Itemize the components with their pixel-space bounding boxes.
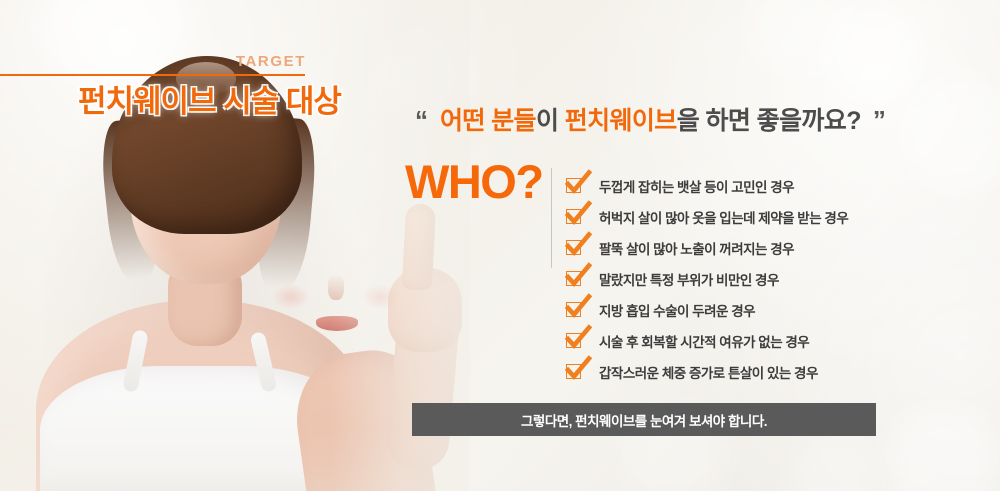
check-mark-icon: [565, 264, 591, 286]
checkbox-icon: [566, 364, 581, 379]
checklist-item: 팔뚝 살이 많아 노출이 꺼려지는 경우: [566, 232, 896, 263]
checkbox-icon: [566, 302, 581, 317]
check-mark-icon: [565, 326, 591, 348]
checklist-item: 지방 흡입 수술이 두려운 경우: [566, 294, 896, 325]
checklist-item-label: 지방 흡입 수술이 두려운 경우: [599, 300, 755, 320]
heading-block: TARGET 펀치웨이브 시술 대상: [0, 50, 320, 120]
target-promo-banner: TARGET 펀치웨이브 시술 대상 “ 어떤 분들이 펀치웨이브을 하면 좋을…: [0, 0, 1000, 491]
checkbox-icon: [566, 240, 581, 255]
eyebrow-label: TARGET: [236, 53, 306, 70]
bokeh-circle: [884, 408, 1000, 491]
photo-fade-bottom: [0, 430, 470, 491]
quote-close-mark: ”: [873, 107, 886, 133]
page-title: 펀치웨이브 시술 대상: [78, 76, 341, 121]
bottom-banner: 그렇다면, 펀치웨이브를 눈여겨 보셔야 합니다.: [412, 403, 876, 436]
who-heading: WHO?: [405, 158, 543, 205]
check-mark-icon: [565, 171, 591, 193]
check-mark-icon: [565, 202, 591, 224]
bokeh-circle: [790, 436, 880, 491]
checklist-item-label: 갑작스러운 체중 증가로 튼살이 있는 경우: [599, 362, 818, 382]
quote-segment-0: 어떤 분들: [440, 107, 536, 135]
checkbox-icon: [566, 178, 581, 193]
quote-headline: “ 어떤 분들이 펀치웨이브을 하면 좋을까요? ”: [415, 101, 886, 137]
checklist-item-label: 시술 후 회복할 시간적 여유가 없는 경우: [599, 331, 809, 351]
checkbox-icon: [566, 333, 581, 348]
checklist-item: 두껍게 잡히는 뱃살 등이 고민인 경우: [566, 170, 896, 201]
check-mark-icon: [565, 357, 591, 379]
checklist-item-label: 팔뚝 살이 많아 노출이 꺼려지는 경우: [599, 238, 794, 258]
checkbox-icon: [566, 271, 581, 286]
bokeh-circle: [826, 6, 922, 102]
checklist-item: 허벅지 살이 많아 옷을 입는데 제약을 받는 경우: [566, 201, 896, 232]
checklist-item-label: 허벅지 살이 많아 옷을 입는데 제약을 받는 경우: [599, 207, 848, 227]
checklist-item: 갑작스러운 체중 증가로 튼살이 있는 경우: [566, 356, 896, 387]
vertical-divider: [551, 168, 552, 268]
quote-segment-1: 이: [536, 107, 565, 135]
quote-segment-3: 을 하면 좋을까요?: [677, 107, 861, 135]
bokeh-circle: [744, 0, 864, 82]
model-cheek-left: [272, 284, 310, 310]
checklist: 두껍게 잡히는 뱃살 등이 고민인 경우허벅지 살이 많아 옷을 입는데 제약을…: [566, 170, 896, 387]
bottom-banner-text: 그렇다면, 펀치웨이브를 눈여겨 보셔야 합니다.: [521, 410, 767, 430]
checklist-item: 시술 후 회복할 시간적 여유가 없는 경우: [566, 325, 896, 356]
check-mark-icon: [565, 233, 591, 255]
check-mark-icon: [565, 295, 591, 317]
quote-segment-2: 펀치웨이브: [565, 107, 677, 135]
checklist-item: 말랐지만 특정 부위가 비만인 경우: [566, 263, 896, 294]
checklist-item-label: 두껍게 잡히는 뱃살 등이 고민인 경우: [599, 176, 794, 196]
quote-text: 어떤 분들이 펀치웨이브을 하면 좋을까요?: [440, 101, 861, 137]
quote-open-mark: “: [415, 107, 428, 133]
checkbox-icon: [566, 209, 581, 224]
checklist-item-label: 말랐지만 특정 부위가 비만인 경우: [599, 269, 779, 289]
bokeh-circle: [900, 74, 1000, 192]
